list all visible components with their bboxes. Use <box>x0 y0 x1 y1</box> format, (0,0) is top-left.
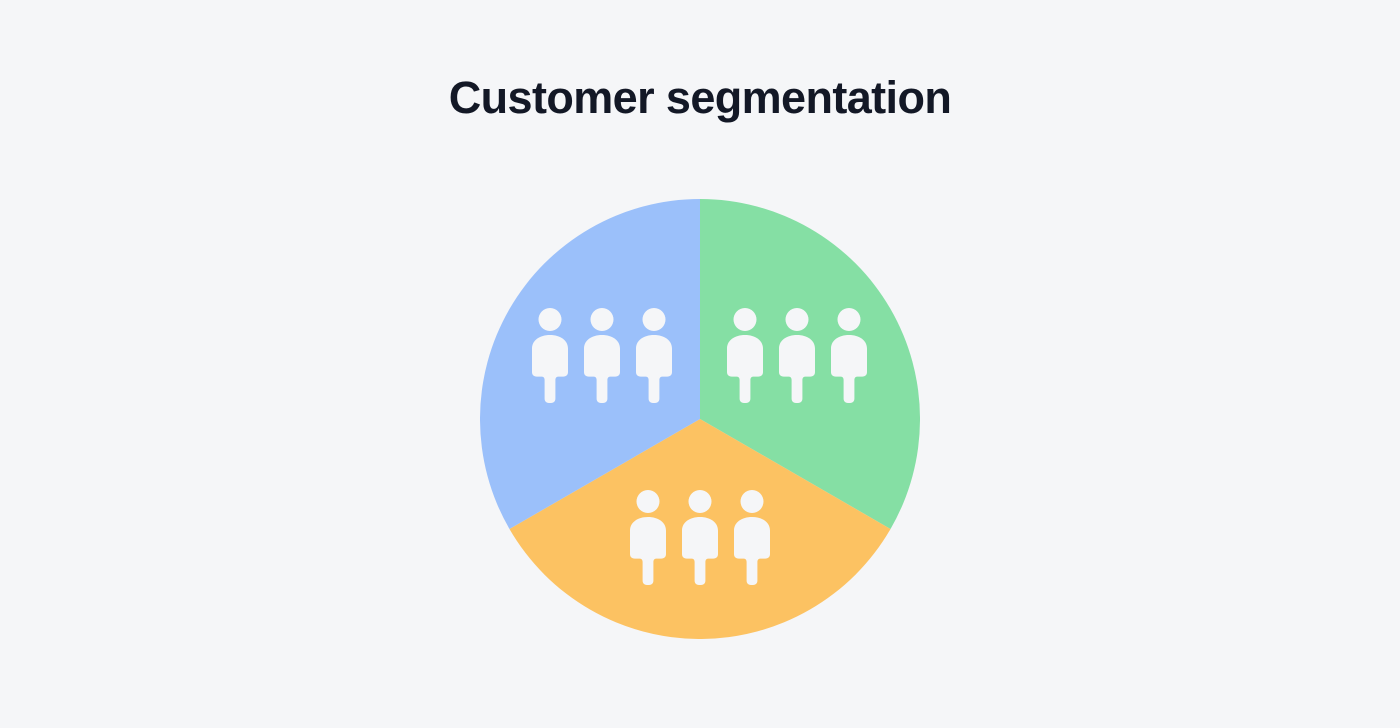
pie-chart-svg <box>480 199 920 639</box>
pie-chart <box>480 199 920 639</box>
chart-canvas: Customer segmentation <box>0 0 1400 728</box>
person-icon-group-segment-1 <box>727 308 867 403</box>
person-icon-group-segment-3 <box>532 308 672 403</box>
person-icon-group-segment-2 <box>630 490 770 585</box>
page-title: Customer segmentation <box>0 68 1400 128</box>
